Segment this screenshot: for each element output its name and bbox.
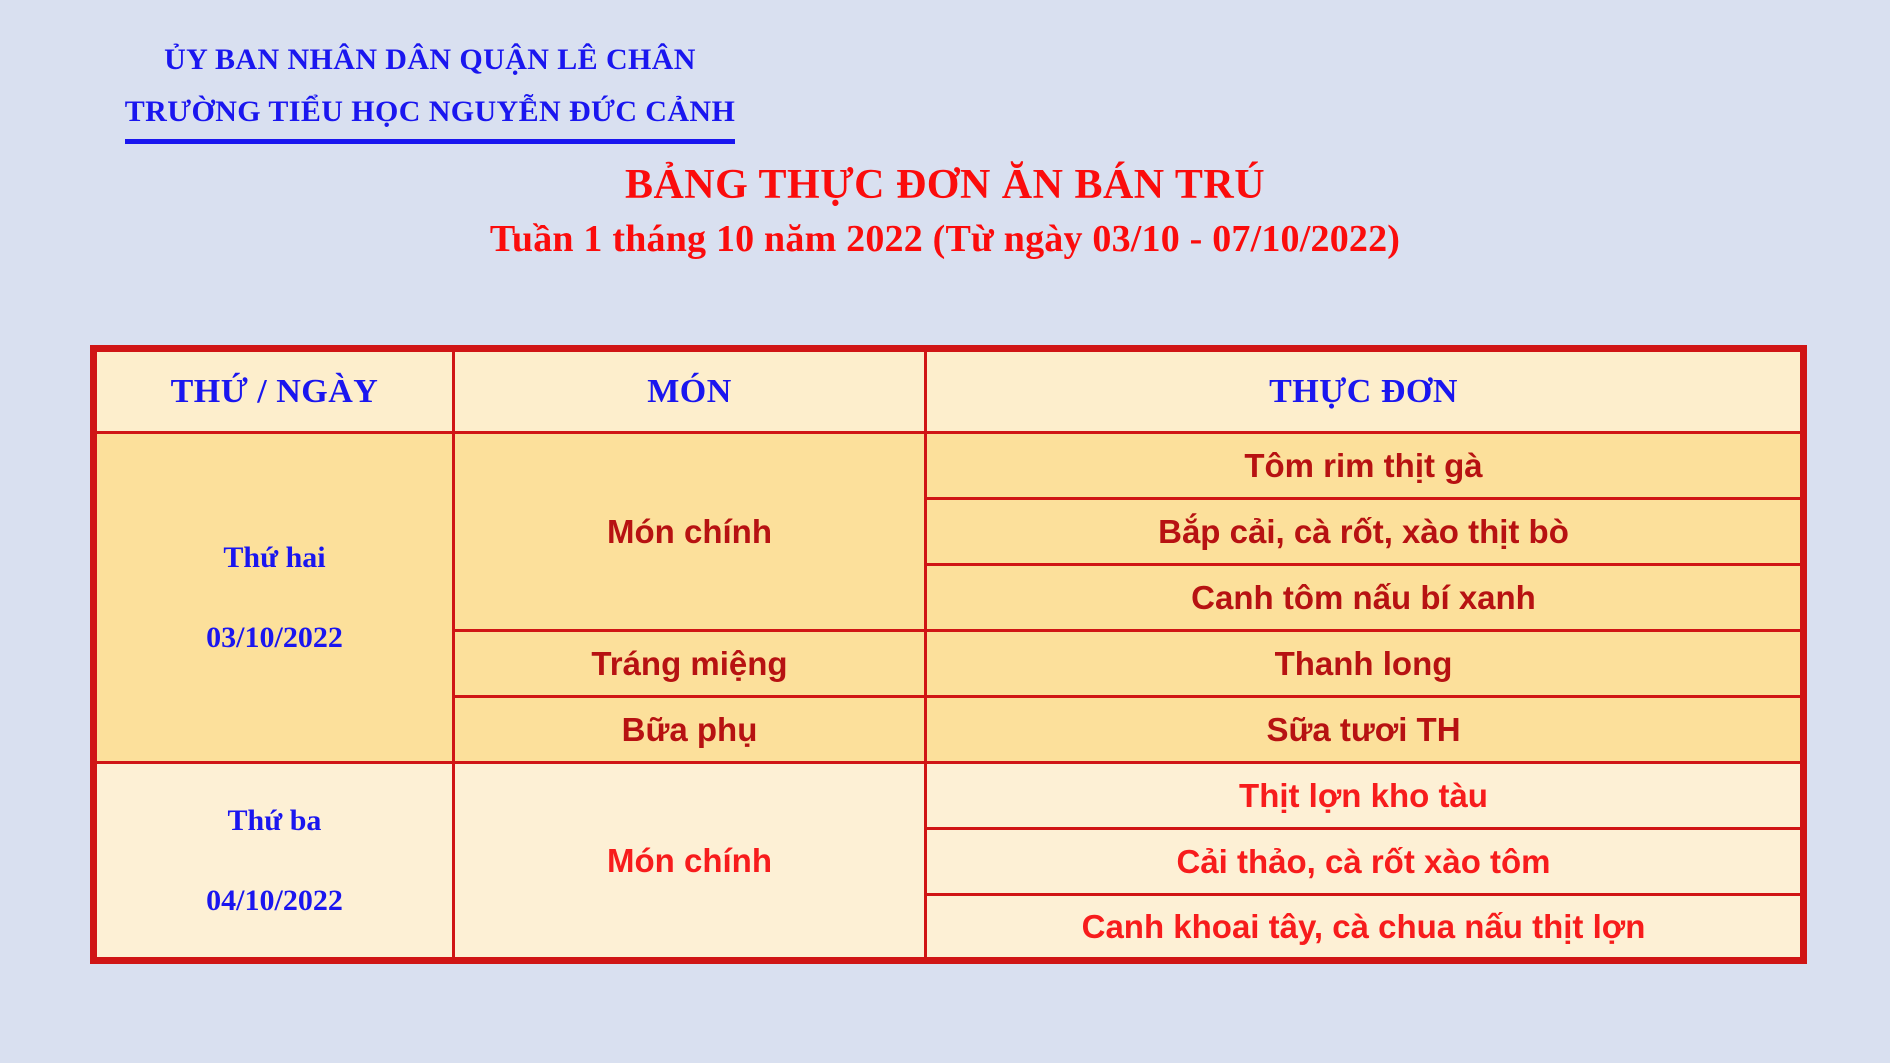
table-row: Thứ hai03/10/2022Món chínhTôm rim thịt g… bbox=[94, 433, 1804, 499]
dish-label: Tôm rim thịt gà bbox=[1244, 447, 1482, 484]
day-name: Thứ hai bbox=[103, 531, 446, 585]
dish-cell: Sữa tươi TH bbox=[926, 697, 1804, 763]
dish-label: Thịt lợn kho tàu bbox=[1239, 777, 1488, 814]
meal-type-cell: Bữa phụ bbox=[454, 697, 926, 763]
meal-type-cell: Món chính bbox=[454, 433, 926, 631]
meal-type-cell: Món chính bbox=[454, 763, 926, 961]
dish-label: Canh tôm nấu bí xanh bbox=[1191, 579, 1536, 616]
dish-cell: Cải thảo, cà rốt xào tôm bbox=[926, 829, 1804, 895]
table-header-row: THỨ / NGÀYMÓNTHỰC ĐƠN bbox=[94, 349, 1804, 433]
day-cell: Thứ ba04/10/2022 bbox=[94, 763, 454, 961]
page-title: BẢNG THỰC ĐƠN ĂN BÁN TRÚ bbox=[0, 160, 1890, 210]
day-date: 04/10/2022 bbox=[103, 874, 446, 928]
dish-cell: Bắp cải, cà rốt, xào thịt bò bbox=[926, 499, 1804, 565]
dish-cell: Canh khoai tây, cà chua nấu thịt lợn bbox=[926, 895, 1804, 961]
column-header-label: THỨ / NGÀY bbox=[171, 373, 379, 410]
dish-label: Thanh long bbox=[1275, 645, 1453, 682]
meal-type-label: Bữa phụ bbox=[622, 711, 758, 748]
document-title-block: BẢNG THỰC ĐƠN ĂN BÁN TRÚ Tuần 1 tháng 10… bbox=[0, 160, 1890, 264]
column-header-3: THỰC ĐƠN bbox=[926, 349, 1804, 433]
dish-cell: Tôm rim thịt gà bbox=[926, 433, 1804, 499]
menu-table: THỨ / NGÀYMÓNTHỰC ĐƠNThứ hai03/10/2022Mó… bbox=[90, 345, 1807, 964]
meal-type-cell: Tráng miệng bbox=[454, 631, 926, 697]
table-row: Thứ ba04/10/2022Món chínhThịt lợn kho tà… bbox=[94, 763, 1804, 829]
day-name: Thứ ba bbox=[103, 794, 446, 848]
dish-label: Cải thảo, cà rốt xào tôm bbox=[1176, 843, 1550, 880]
column-header-label: THỰC ĐƠN bbox=[1269, 373, 1458, 410]
letterhead: ỦY BAN NHÂN DÂN QUẬN LÊ CHÂN TRƯỜNG TIỂU… bbox=[0, 44, 860, 144]
meal-type-label: Món chính bbox=[607, 842, 772, 879]
school-name-block: TRƯỜNG TIỂU HỌC NGUYỄN ĐỨC CẢNH bbox=[125, 96, 735, 145]
dish-label: Canh khoai tây, cà chua nấu thịt lợn bbox=[1082, 908, 1646, 945]
issuing-authority: ỦY BAN NHÂN DÂN QUẬN LÊ CHÂN bbox=[0, 44, 860, 76]
dish-cell: Thanh long bbox=[926, 631, 1804, 697]
column-header-1: THỨ / NGÀY bbox=[94, 349, 454, 433]
meal-type-label: Tráng miệng bbox=[591, 645, 787, 682]
day-date: 03/10/2022 bbox=[103, 611, 446, 665]
dish-cell: Thịt lợn kho tàu bbox=[926, 763, 1804, 829]
dish-cell: Canh tôm nấu bí xanh bbox=[926, 565, 1804, 631]
dish-label: Sữa tươi TH bbox=[1266, 711, 1460, 748]
school-name-underline bbox=[125, 139, 735, 144]
page-subtitle: Tuần 1 tháng 10 năm 2022 (Từ ngày 03/10 … bbox=[0, 216, 1890, 264]
column-header-2: MÓN bbox=[454, 349, 926, 433]
dish-label: Bắp cải, cà rốt, xào thịt bò bbox=[1158, 513, 1569, 550]
school-name: TRƯỜNG TIỂU HỌC NGUYỄN ĐỨC CẢNH bbox=[125, 96, 735, 128]
meal-type-label: Món chính bbox=[607, 513, 772, 550]
column-header-label: MÓN bbox=[647, 373, 732, 410]
day-cell: Thứ hai03/10/2022 bbox=[94, 433, 454, 763]
menu-table-container: THỨ / NGÀYMÓNTHỰC ĐƠNThứ hai03/10/2022Mó… bbox=[90, 345, 1800, 964]
